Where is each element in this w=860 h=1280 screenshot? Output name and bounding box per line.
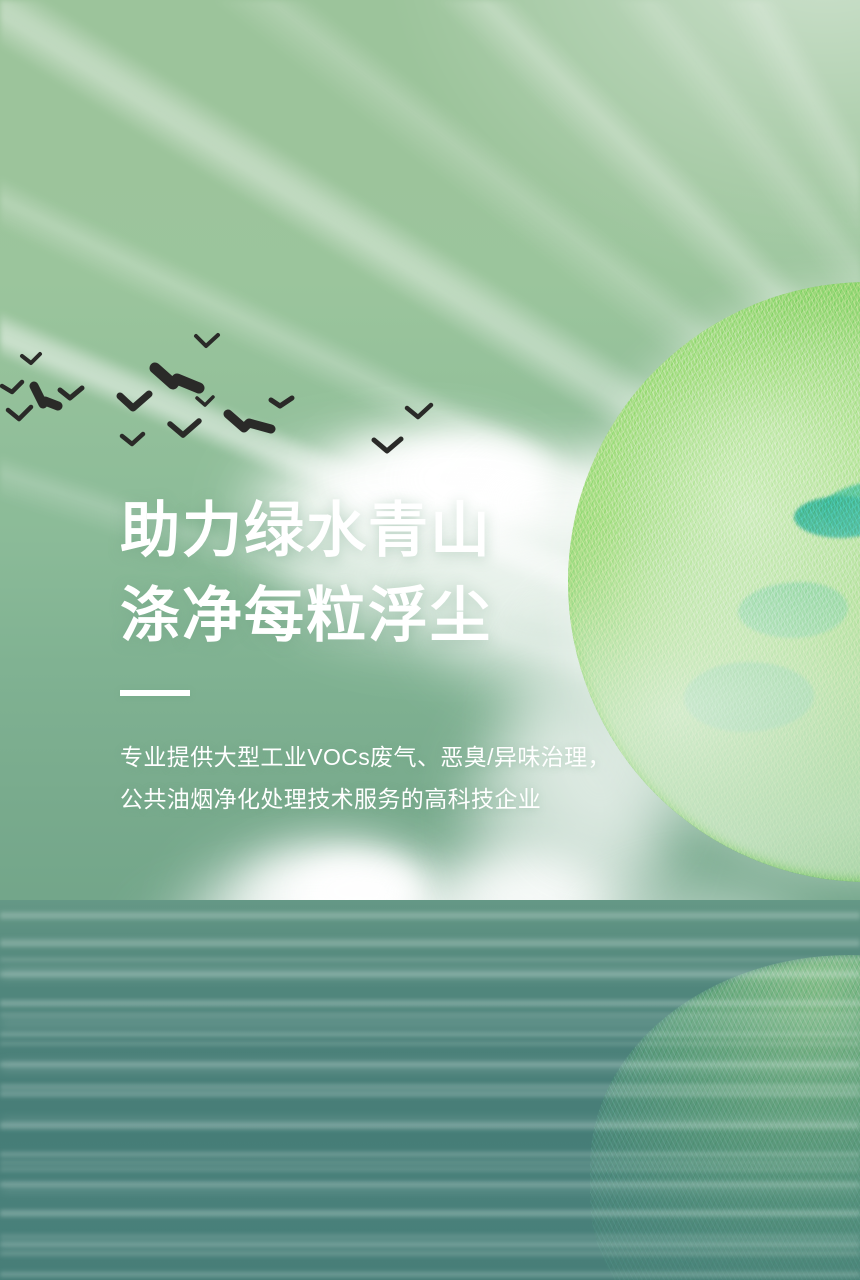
headline-line-1: 助力绿水青山: [120, 488, 680, 573]
water-ripples: [0, 900, 860, 1280]
divider: [120, 690, 190, 696]
subtitle-line-1: 专业提供大型工业VOCs废气、恶臭/异味治理，: [120, 736, 680, 778]
poster-banner: 助力绿水青山 涤净每粒浮尘 专业提供大型工业VOCs废气、恶臭/异味治理， 公共…: [0, 0, 860, 1280]
bird-flock-icon: [0, 330, 470, 460]
poster-copy: 助力绿水青山 涤净每粒浮尘 专业提供大型工业VOCs废气、恶臭/异味治理， 公共…: [120, 488, 680, 820]
subtitle: 专业提供大型工业VOCs废气、恶臭/异味治理， 公共油烟净化处理技术服务的高科技…: [120, 736, 680, 820]
page-title: 助力绿水青山 涤净每粒浮尘: [120, 488, 680, 658]
headline-line-2: 涤净每粒浮尘: [120, 573, 680, 658]
subtitle-line-2: 公共油烟净化处理技术服务的高科技企业: [120, 778, 680, 820]
